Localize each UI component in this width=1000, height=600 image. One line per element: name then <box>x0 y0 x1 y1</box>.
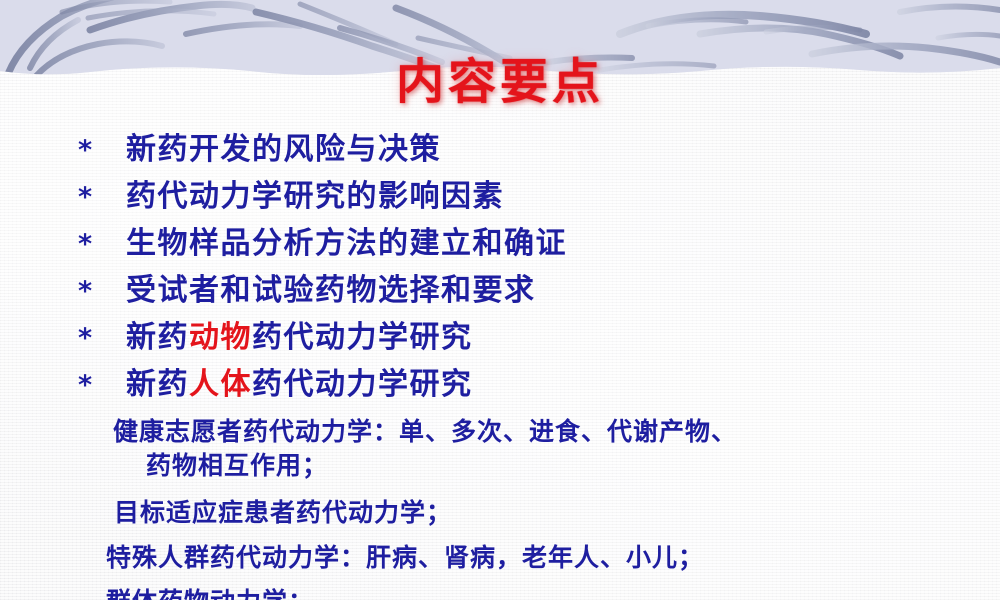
bullet-item-6-highlight: 人体 <box>189 367 252 402</box>
bullet-item-5-suffix: 药代动力学研究 <box>252 320 473 355</box>
sub-line-1: 健康志愿者药代动力学：单、多次、进食、代谢产物、 <box>0 415 1000 449</box>
asterisk-bullet-icon: * <box>78 182 126 213</box>
bullet-item-6-suffix: 药代动力学研究 <box>252 367 473 402</box>
slide-canvas: 内容要点 * 新药开发的风险与决策 * 药代动力学研究的影响因素 * 生物样品分… <box>0 0 1000 600</box>
bullet-item-5: * 新药动物药代动力学研究 <box>78 312 958 359</box>
asterisk-bullet-icon: * <box>78 370 126 401</box>
bullet-item-4: * 受试者和试验药物选择和要求 <box>78 265 958 312</box>
bullet-item-2: * 药代动力学研究的影响因素 <box>78 171 958 218</box>
sub-line-2: 药物相互作用； <box>0 449 1000 483</box>
sub-line-3: 目标适应症患者药代动力学； <box>0 496 1000 530</box>
sub-detail-block: 健康志愿者药代动力学：单、多次、进食、代谢产物、 药物相互作用； 目标适应症患者… <box>0 415 1000 600</box>
bullet-item-3: * 生物样品分析方法的建立和确证 <box>78 218 958 265</box>
bullet-item-1: * 新药开发的风险与决策 <box>78 124 958 171</box>
bullet-item-5-label: 新药动物药代动力学研究 <box>126 312 473 356</box>
asterisk-bullet-icon: * <box>78 135 126 166</box>
asterisk-bullet-icon: * <box>78 229 126 260</box>
bullet-item-2-label: 药代动力学研究的影响因素 <box>126 171 504 215</box>
bullet-list: * 新药开发的风险与决策 * 药代动力学研究的影响因素 * 生物样品分析方法的建… <box>78 124 958 406</box>
slide-title: 内容要点 <box>0 58 1000 106</box>
bullet-item-5-prefix: 新药 <box>126 320 189 355</box>
bullet-item-1-label: 新药开发的风险与决策 <box>126 124 441 168</box>
sub-line-5: 群体药物动力学： <box>0 585 1000 600</box>
spacer-3 <box>0 575 1000 585</box>
bullet-item-6-prefix: 新药 <box>126 367 189 402</box>
spacer-2 <box>0 530 1000 541</box>
sub-line-4: 特殊人群药代动力学：肝病、肾病，老年人、小儿； <box>0 541 1000 575</box>
asterisk-bullet-icon: * <box>78 323 126 354</box>
bullet-item-4-label: 受试者和试验药物选择和要求 <box>126 265 536 309</box>
bullet-item-5-highlight: 动物 <box>189 320 252 355</box>
bullet-item-3-label: 生物样品分析方法的建立和确证 <box>126 218 567 262</box>
asterisk-bullet-icon: * <box>78 276 126 307</box>
spacer-1 <box>0 483 1000 496</box>
bullet-item-6: * 新药人体药代动力学研究 <box>78 359 958 406</box>
bullet-item-6-label: 新药人体药代动力学研究 <box>126 359 473 403</box>
